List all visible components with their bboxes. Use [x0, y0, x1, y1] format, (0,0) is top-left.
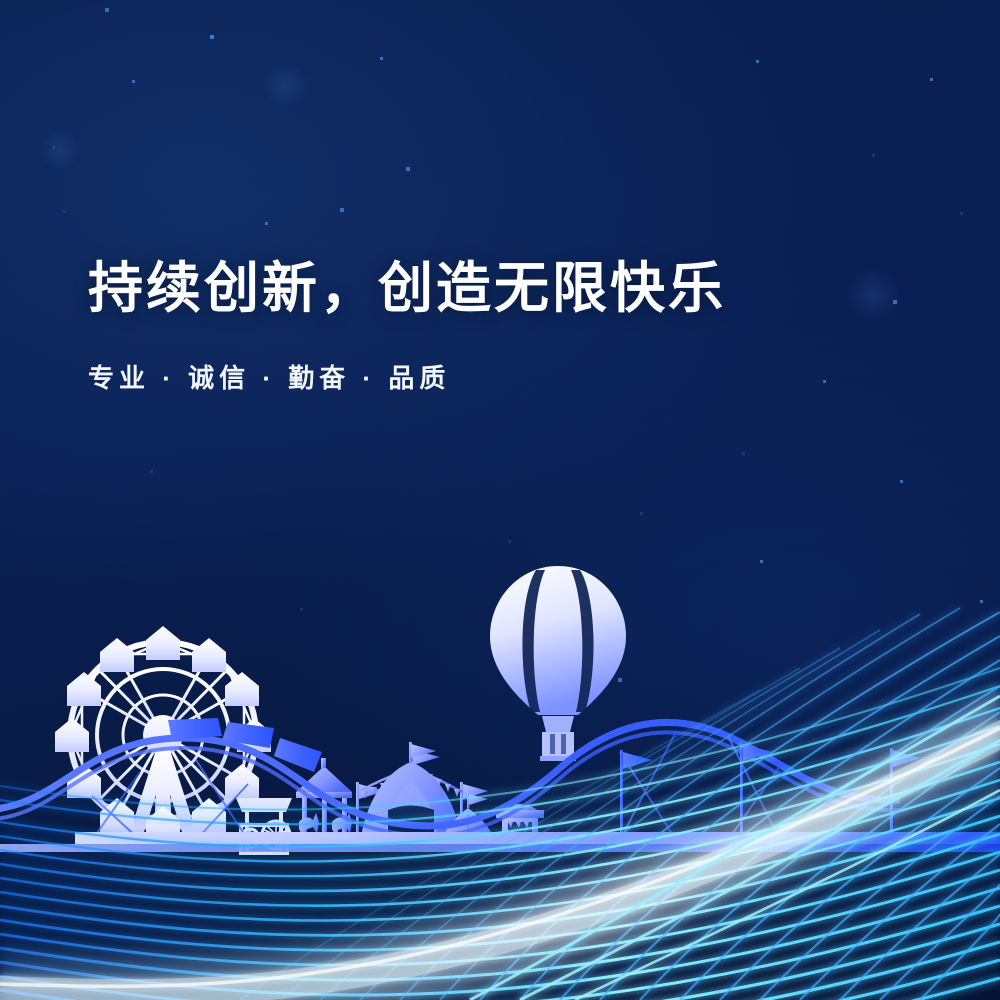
star: [132, 80, 135, 83]
star: [960, 212, 963, 215]
star: [210, 35, 214, 39]
star: [900, 480, 903, 483]
star: [872, 154, 875, 157]
star: [63, 210, 66, 213]
headline-block: 持续创新，创造无限快乐 专业 · 诚信 · 勤奋 · 品质: [88, 258, 908, 395]
star-haze: [40, 130, 80, 170]
star-haze: [262, 62, 308, 108]
star: [640, 512, 643, 515]
star: [150, 470, 153, 473]
star: [265, 222, 268, 225]
star: [210, 35, 213, 38]
star: [340, 208, 344, 212]
star: [930, 78, 933, 81]
star: [406, 167, 410, 171]
star: [105, 8, 109, 12]
poster-canvas: 持续创新，创造无限快乐 专业 · 诚信 · 勤奋 · 品质: [0, 0, 1000, 1000]
neon-wave-mesh: [0, 600, 1000, 1000]
page-subtitle: 专业 · 诚信 · 勤奋 · 品质: [88, 358, 908, 395]
star: [380, 57, 383, 60]
star: [52, 146, 55, 149]
star: [742, 452, 745, 455]
star: [756, 60, 759, 63]
page-title: 持续创新，创造无限快乐: [88, 258, 908, 320]
